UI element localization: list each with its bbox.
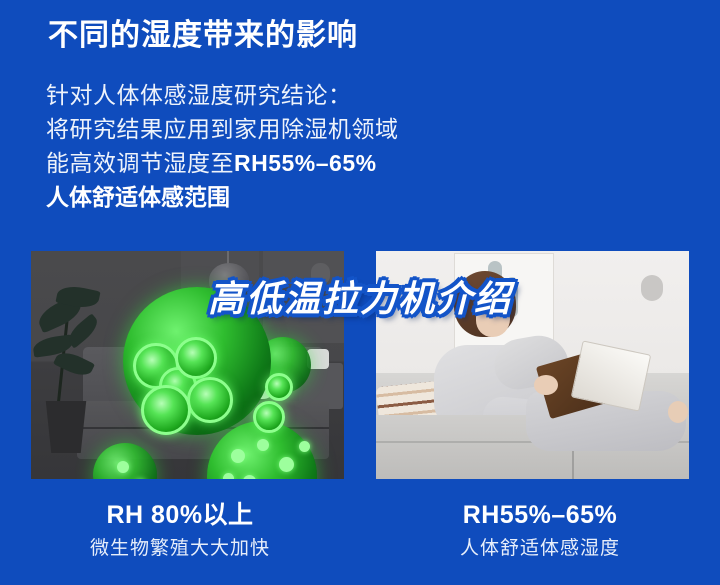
spore-dot-icon [279, 457, 294, 472]
caption-row: RH 80%以上 微生物繁殖大大加快 RH55%–65% 人体舒适体感湿度 [0, 498, 720, 562]
intro-block: 针对人体体感湿度研究结论： 将研究结果应用到家用除湿机领域 能高效调节湿度至RH… [46, 78, 686, 214]
spore-dot-icon [231, 449, 245, 463]
caption-comfort-value: RH55%–65% [360, 498, 720, 532]
spore-dot-icon [223, 473, 234, 479]
overlay-title: 高低温拉力机介绍 [208, 277, 512, 321]
intro-line-1: 针对人体体感湿度研究结论： [46, 78, 686, 112]
person-hand-icon [534, 375, 558, 395]
spore-dot-icon [299, 441, 310, 452]
microbe-cell-icon [141, 385, 191, 435]
caption-humid-value: RH 80%以上 [0, 498, 360, 532]
wall-speaker-icon [641, 275, 663, 301]
intro-line-3-plain: 能高效调节湿度至 [46, 150, 234, 176]
intro-line-4: 人体舒适体感范围 [46, 180, 686, 214]
microbe-cell-icon [187, 377, 233, 423]
person-foot-icon [668, 401, 688, 423]
spore-dot-icon [117, 461, 129, 473]
caption-humid-description: 微生物繁殖大大加快 [0, 536, 360, 562]
page-title: 不同的湿度带来的影响 [48, 16, 688, 56]
intro-line-2: 将研究结果应用到家用除湿机领域 [46, 112, 686, 146]
header: 不同的湿度带来的影响 [48, 16, 688, 56]
poster-root: 不同的湿度带来的影响 针对人体体感湿度研究结论： 将研究结果应用到家用除湿机领域… [0, 0, 720, 585]
caption-humid: RH 80%以上 微生物繁殖大大加快 [0, 498, 360, 562]
microbe-cell-icon [265, 373, 293, 401]
intro-line-3: 能高效调节湿度至RH55%–65% [46, 146, 686, 180]
caption-comfort: RH55%–65% 人体舒适体感湿度 [360, 498, 720, 562]
caption-comfort-description: 人体舒适体感湿度 [360, 536, 720, 562]
spore-dot-icon [257, 439, 269, 451]
microbe-cell-icon [253, 401, 285, 433]
microbe-cell-icon [175, 337, 217, 379]
intro-line-3-range: RH55%–65% [234, 150, 377, 176]
